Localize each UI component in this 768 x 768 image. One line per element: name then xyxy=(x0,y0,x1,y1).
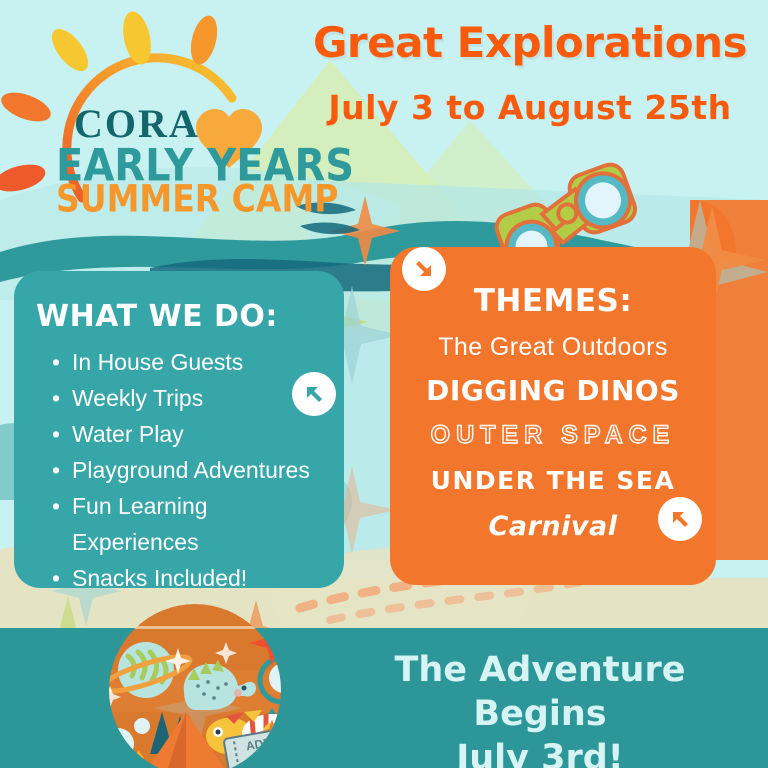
theme-item-sea: UNDER THE SEA xyxy=(390,466,716,495)
ticket-line-2: ONE xyxy=(253,748,281,766)
list-item: Fun Learning Experiences xyxy=(36,488,326,560)
themes-title: THEMES: xyxy=(390,283,716,319)
footer-line-1: The Adventure Begins xyxy=(330,648,750,736)
poster-canvas: CORA EARLY YEARS SUMMER CAMP Great Explo… xyxy=(0,0,768,768)
theme-item-outdoors: The Great Outdoors xyxy=(390,333,716,362)
theme-item-dinos: DIGGING DINOS xyxy=(390,374,716,407)
footer-line-2: July 3rd! xyxy=(330,736,750,768)
arrow-up-left-badge[interactable] xyxy=(292,372,336,416)
theme-item-space: OUTER SPACE xyxy=(390,421,716,450)
list-item: Weekly Trips xyxy=(36,380,326,416)
arrow-down-right-icon xyxy=(411,256,437,282)
list-item: Playground Adventures xyxy=(36,452,326,488)
list-item: Water Play xyxy=(36,416,326,452)
page-title: Great Explorations xyxy=(300,18,760,67)
what-we-do-panel: WHAT WE DO: In House Guests Weekly Trips… xyxy=(14,271,344,588)
date-range: July 3 to August 25th xyxy=(300,88,760,127)
arrow-up-left-icon xyxy=(301,381,327,407)
adventure-illustration: ADMIT ONE xyxy=(76,604,314,768)
footer-text: The Adventure Begins July 3rd! xyxy=(330,648,750,768)
arrow-down-right-badge[interactable] xyxy=(402,247,446,291)
cora-logo: CORA EARLY YEARS SUMMER CAMP xyxy=(0,0,330,260)
what-we-do-title: WHAT WE DO: xyxy=(36,299,326,334)
what-we-do-list: In House Guests Weekly Trips Water Play … xyxy=(36,344,326,596)
list-item: Snacks Included! xyxy=(36,560,326,596)
logo-line3: SUMMER CAMP xyxy=(56,177,338,221)
arrow-up-left-badge-2[interactable] xyxy=(658,497,702,541)
list-item: In House Guests xyxy=(36,344,326,380)
arrow-up-left-icon-2 xyxy=(667,506,693,532)
